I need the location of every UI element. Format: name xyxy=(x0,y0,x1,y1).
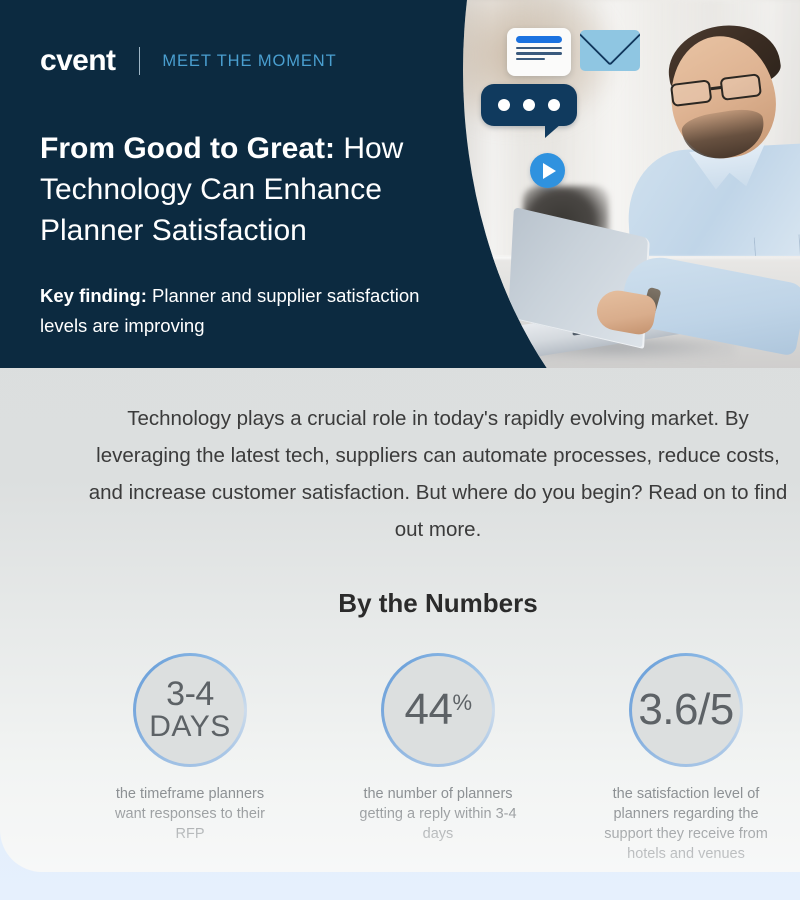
hero-photo xyxy=(455,0,800,368)
stats-row: 3-4 DAYS the timeframe planners want res… xyxy=(0,653,800,864)
stat-item: 3.6/5 the satisfaction level of planners… xyxy=(596,653,776,864)
stat-value: 3.6/5 xyxy=(638,688,733,733)
by-the-numbers-heading: By the Numbers xyxy=(0,588,800,619)
headline-emphasis: From Good to Great: xyxy=(40,132,335,165)
key-finding-label: Key finding: xyxy=(40,285,147,306)
content-card: cvent MEET THE MOMENT From Good to Great… xyxy=(0,0,800,872)
stat-caption: the timeframe planners want responses to… xyxy=(100,784,280,844)
stat-caption: the number of planners getting a reply w… xyxy=(348,784,528,844)
stat-value: 44% xyxy=(404,688,471,733)
stat-circle: 44% xyxy=(381,653,495,767)
stat-circle: 3.6/5 xyxy=(629,653,743,767)
page-title: From Good to Great: How Technology Can E… xyxy=(40,128,450,251)
envelope-icon xyxy=(580,30,640,71)
stat-value-line2: DAYS xyxy=(149,712,230,743)
stat-value-percent: % xyxy=(452,690,471,715)
stat-value: 3-4 DAYS xyxy=(149,677,230,742)
stat-caption: the satisfaction level of planners regar… xyxy=(596,784,776,864)
key-finding: Key finding: Planner and supplier satisf… xyxy=(40,281,450,341)
intro-paragraph: Technology plays a crucial role in today… xyxy=(88,368,788,548)
play-button-icon xyxy=(530,153,565,188)
stat-circle: 3-4 DAYS xyxy=(133,653,247,767)
cvent-logo: cvent xyxy=(40,46,115,76)
stat-item: 44% the number of planners getting a rep… xyxy=(348,653,528,864)
stat-item: 3-4 DAYS the timeframe planners want res… xyxy=(100,653,280,864)
brand-row: cvent MEET THE MOMENT xyxy=(40,0,450,76)
chat-bubble-icon xyxy=(481,84,577,126)
hero-section: cvent MEET THE MOMENT From Good to Great… xyxy=(0,0,800,368)
brand-divider xyxy=(139,47,140,75)
document-card-icon xyxy=(507,28,571,76)
stat-value-line1: 3-4 xyxy=(149,677,230,712)
hero-text-block: cvent MEET THE MOMENT From Good to Great… xyxy=(40,0,450,341)
brand-tagline: MEET THE MOMENT xyxy=(162,53,336,70)
stat-value-number: 44 xyxy=(404,685,452,734)
